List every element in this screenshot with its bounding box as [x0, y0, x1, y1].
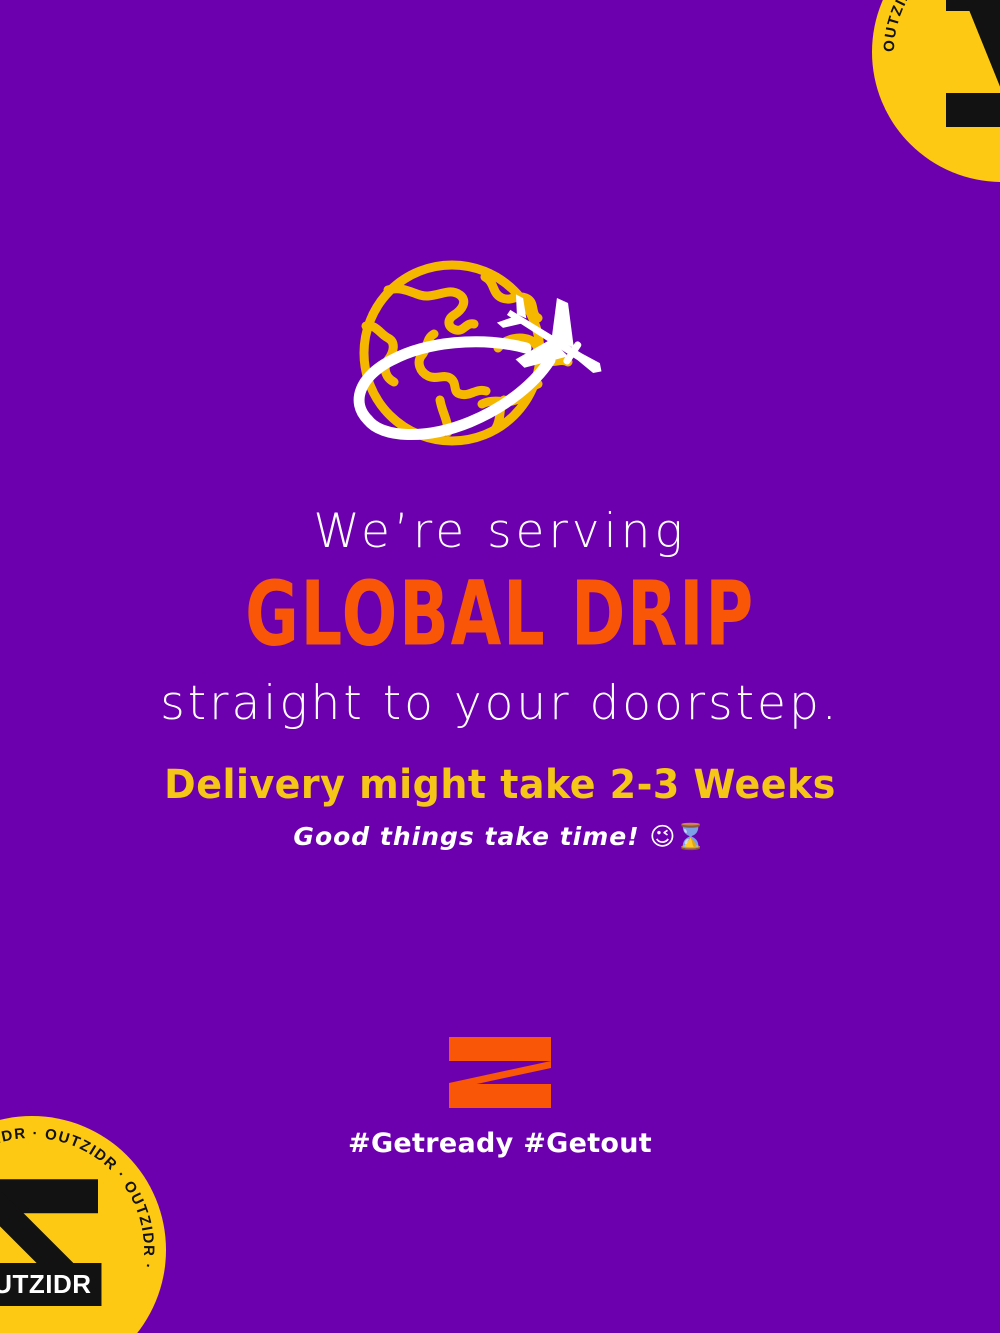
wink-hourglass-emoji: 😉⌛ — [649, 822, 706, 851]
badge-bottom-left: OUTZIDR · OUTZIDR · OUTZIDR · OUTZIDR · … — [0, 1116, 166, 1333]
eyebrow-text: We’re serving — [0, 505, 1000, 559]
outzidr-z-logo — [447, 1035, 553, 1110]
promo-poster: OUTZIDR · OUTZIDR · OUTZIDR · OUTZIDR · — [0, 0, 1000, 1333]
delivery-main-text: Delivery might take 2-3 Weeks — [25, 762, 975, 808]
badge-mark-top-right — [946, 0, 1000, 127]
badge-wordmark-text: OUTZIDR — [0, 1269, 92, 1299]
delivery-sub-text: Good things take time! — [293, 822, 639, 851]
headline-block: We’re serving GLOBAL DRIP straight to yo… — [0, 505, 1000, 731]
delivery-sub-line: Good things take time! 😉⌛ — [0, 822, 1000, 852]
subline-text: straight to your doorstep. — [0, 677, 1000, 731]
headline-text: GLOBAL DRIP — [80, 563, 920, 668]
delivery-notice: Delivery might take 2-3 Weeks Good thing… — [0, 762, 1000, 852]
badge-wordmark-bottom-left: OUTZIDR — [0, 1263, 102, 1306]
globe-airplane-icon — [330, 252, 660, 472]
badge-top-right: OUTZIDR · OUTZIDR · OUTZIDR · OUTZIDR · — [872, 0, 1000, 182]
